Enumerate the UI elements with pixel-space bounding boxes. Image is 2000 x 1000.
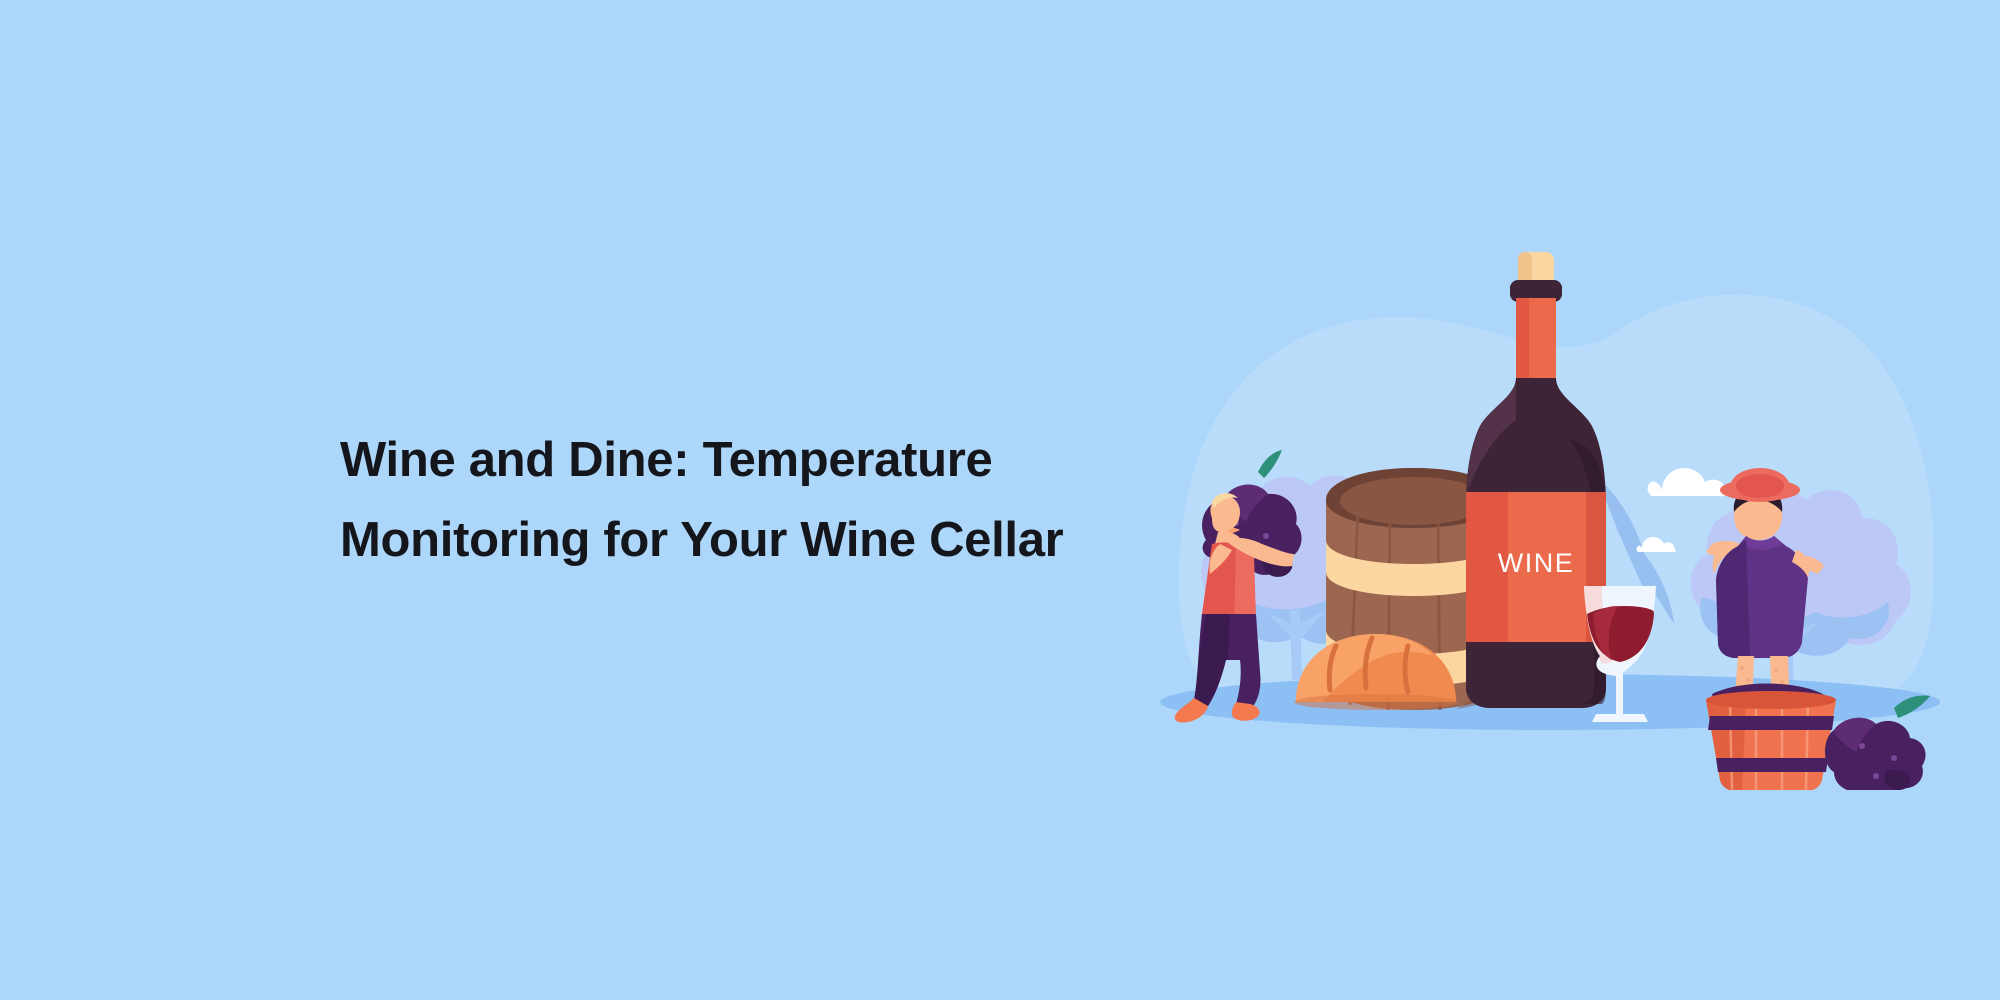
headline-line-2: Monitoring for Your Wine Cellar (340, 500, 1160, 580)
headline-line-1: Wine and Dine: Temperature (340, 420, 1160, 500)
wine-bottle-icon: WINE (1466, 252, 1606, 708)
grape-tub-icon (1706, 691, 1836, 790)
page-title: Wine and Dine: Temperature Monitoring fo… (340, 420, 1160, 580)
wine-cellar-banner: Wine and Dine: Temperature Monitoring fo… (0, 0, 2000, 1000)
wine-cellar-illustration: WINE (1150, 210, 1950, 790)
bottle-label-text: WINE (1498, 548, 1575, 578)
